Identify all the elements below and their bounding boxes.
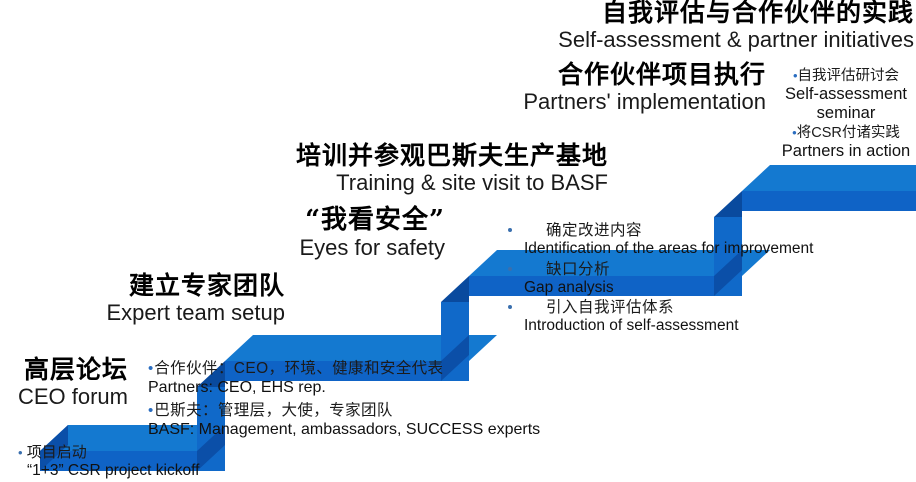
step-top-face-4 [742,165,916,191]
step-label-self-assessment-zh: 自我评估与合作伙伴的实践 [520,0,914,27]
step-label-training-basf-en: Training & site visit to BASF [260,171,608,194]
kickoff-en: “1+3” CSR project kickoff [27,462,199,480]
step-label-self-assessment: 自我评估与合作伙伴的实践 Self-assessment & partner i… [520,0,914,51]
right-detail-1-en2: seminar [778,104,914,123]
step-label-ceo-forum-zh: 高层论坛 [0,357,128,384]
forum-detail-row-1-en: Partners: CEO, EHS rep. [148,379,540,398]
bullet-dot-icon [508,267,512,271]
bullet-icon: • [18,445,23,460]
right-detail-group-1: •自我评估研讨会 Self-assessment seminar [778,68,914,123]
center-details-block: 确定改进内容 Identification of the areas for i… [508,222,813,338]
step-label-ceo-forum: 高层论坛 CEO forum [0,357,128,408]
step-top-face-2 [225,335,497,361]
step-front-face-4 [742,191,916,211]
step-label-eyes-for-safety: “我看安全” Eyes for safety [240,207,445,259]
step-label-ceo-forum-en: CEO forum [0,385,128,408]
forum-detail-row-2-zh: •巴斯夫：管理层，大使，专家团队 [148,402,540,421]
staircase-diagram: 高层论坛 CEO forum 建立专家团队 Expert team setup … [0,0,916,482]
right-detail-2-en: Partners in action [778,142,914,161]
center-bullet-item-1: 确定改进内容 Identification of the areas for i… [508,222,813,259]
forum-detail-row-2-en: BASF: Management, ambassadors, SUCCESS e… [148,421,540,440]
bullet-dot-icon [508,305,512,309]
kickoff-details-block: • 项目启动 “1+3” CSR project kickoff [18,444,199,480]
step-label-eyes-for-safety-en: Eyes for safety [240,236,445,259]
step-label-training-basf: 培训并参观巴斯夫生产基地 Training & site visit to BA… [260,143,608,194]
step-label-expert-team-en: Expert team setup [60,301,285,324]
step-label-self-assessment-en: Self-assessment & partner initiatives [520,28,914,51]
step-label-training-basf-zh: 培训并参观巴斯夫生产基地 [260,143,608,170]
bullet-icon: • [148,360,153,377]
right-detail-1-zh: •自我评估研讨会 [778,68,914,85]
riser-side-2 [441,276,469,361]
bullet-icon: • [148,402,153,419]
forum-details-block: •合作伙伴：CEO，环境、健康和安全代表 Partners: CEO, EHS … [148,360,540,440]
step-label-expert-team-zh: 建立专家团队 [60,273,285,300]
forum-detail-row-1-zh: •合作伙伴：CEO，环境、健康和安全代表 [148,360,540,379]
right-detail-group-2: •将CSR付诸实践 Partners in action [778,125,914,161]
step-label-partners-implementation-en: Partners' implementation [400,90,766,113]
right-details-block: •自我评估研讨会 Self-assessment seminar •将CSR付诸… [778,68,914,163]
step-label-eyes-for-safety-zh: “我看安全” [240,207,445,235]
step-label-expert-team: 建立专家团队 Expert team setup [60,273,285,324]
bullet-dot-icon [508,228,512,232]
kickoff-zh: • 项目启动 [18,444,199,462]
center-bullet-item-2: 缺口分析 Gap analysis [508,261,813,298]
center-bullet-item-3: 引入自我评估体系 Introduction of self-assessment [508,299,813,336]
right-detail-2-zh: •将CSR付诸实践 [778,125,914,142]
step-label-partners-implementation-zh: 合作伙伴项目执行 [400,62,766,89]
step-label-partners-implementation: 合作伙伴项目执行 Partners' implementation [400,62,766,113]
right-detail-1-en: Self-assessment [778,85,914,104]
